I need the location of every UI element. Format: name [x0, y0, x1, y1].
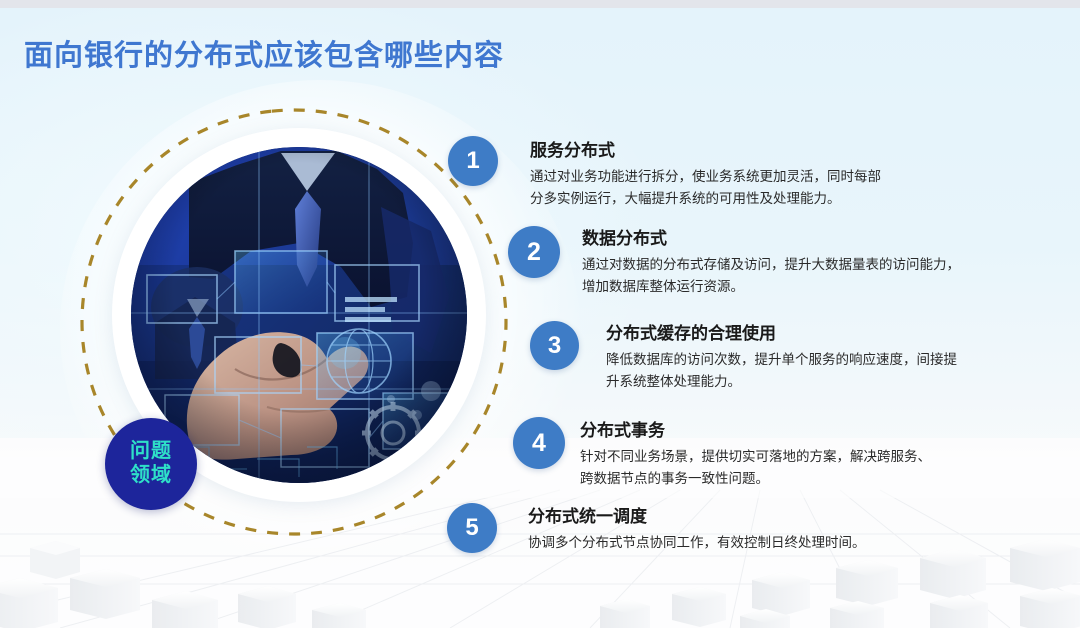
item-number-4[interactable]: 4	[513, 417, 565, 469]
slide-canvas: 面向银行的分布式应该包含哪些内容	[0, 0, 1080, 628]
item-heading-1: 服务分布式	[530, 140, 1000, 163]
badge-line-1: 问题	[130, 440, 172, 464]
item-number-2-label: 2	[527, 238, 541, 267]
item-heading-5: 分布式统一调度	[528, 506, 998, 529]
item-number-1[interactable]: 1	[448, 136, 498, 186]
item-number-1-label: 1	[466, 147, 479, 175]
badge-line-2: 领域	[130, 464, 172, 488]
page-title: 面向银行的分布式应该包含哪些内容	[24, 32, 504, 74]
item-body-2: 通过对数据的分布式存储及访问，提升大数据量表的访问能力， 增加数据库整体运行资源…	[582, 254, 1002, 298]
item-number-3-label: 3	[548, 332, 561, 360]
item-number-2[interactable]: 2	[508, 226, 560, 278]
item-text-4: 分布式事务 针对不同业务场景，提供切实可落地的方案，解决跨服务、 跨数据节点的事…	[580, 420, 1000, 490]
item-text-2: 数据分布式 通过对数据的分布式存储及访问，提升大数据量表的访问能力， 增加数据库…	[582, 228, 1002, 298]
item-heading-4: 分布式事务	[580, 420, 1000, 443]
item-body-4: 针对不同业务场景，提供切实可落地的方案，解决跨服务、 跨数据节点的事务一致性问题…	[580, 446, 1000, 490]
problem-domain-badge: 问题 领域	[105, 418, 197, 510]
item-heading-2: 数据分布式	[582, 228, 1002, 251]
item-number-5-label: 5	[465, 514, 478, 542]
item-text-3: 分布式缓存的合理使用 降低数据库的访问次数，提升单个服务的响应速度，间接提 升系…	[606, 323, 1006, 393]
item-text-1: 服务分布式 通过对业务功能进行拆分，使业务系统更加灵活，同时每部 分多实例运行，…	[530, 140, 1000, 210]
item-heading-3: 分布式缓存的合理使用	[606, 323, 1006, 346]
item-body-1: 通过对业务功能进行拆分，使业务系统更加灵活，同时每部 分多实例运行，大幅提升系统…	[530, 166, 1000, 210]
item-number-4-label: 4	[532, 429, 546, 458]
top-strip	[0, 0, 1080, 8]
item-body-5: 协调多个分布式节点协同工作，有效控制日终处理时间。	[528, 532, 998, 554]
item-text-5: 分布式统一调度 协调多个分布式节点协同工作，有效控制日终处理时间。	[528, 506, 998, 554]
item-body-3: 降低数据库的访问次数，提升单个服务的响应速度，间接提 升系统整体处理能力。	[606, 349, 1006, 393]
item-number-5[interactable]: 5	[447, 503, 497, 553]
item-number-3[interactable]: 3	[530, 321, 579, 370]
